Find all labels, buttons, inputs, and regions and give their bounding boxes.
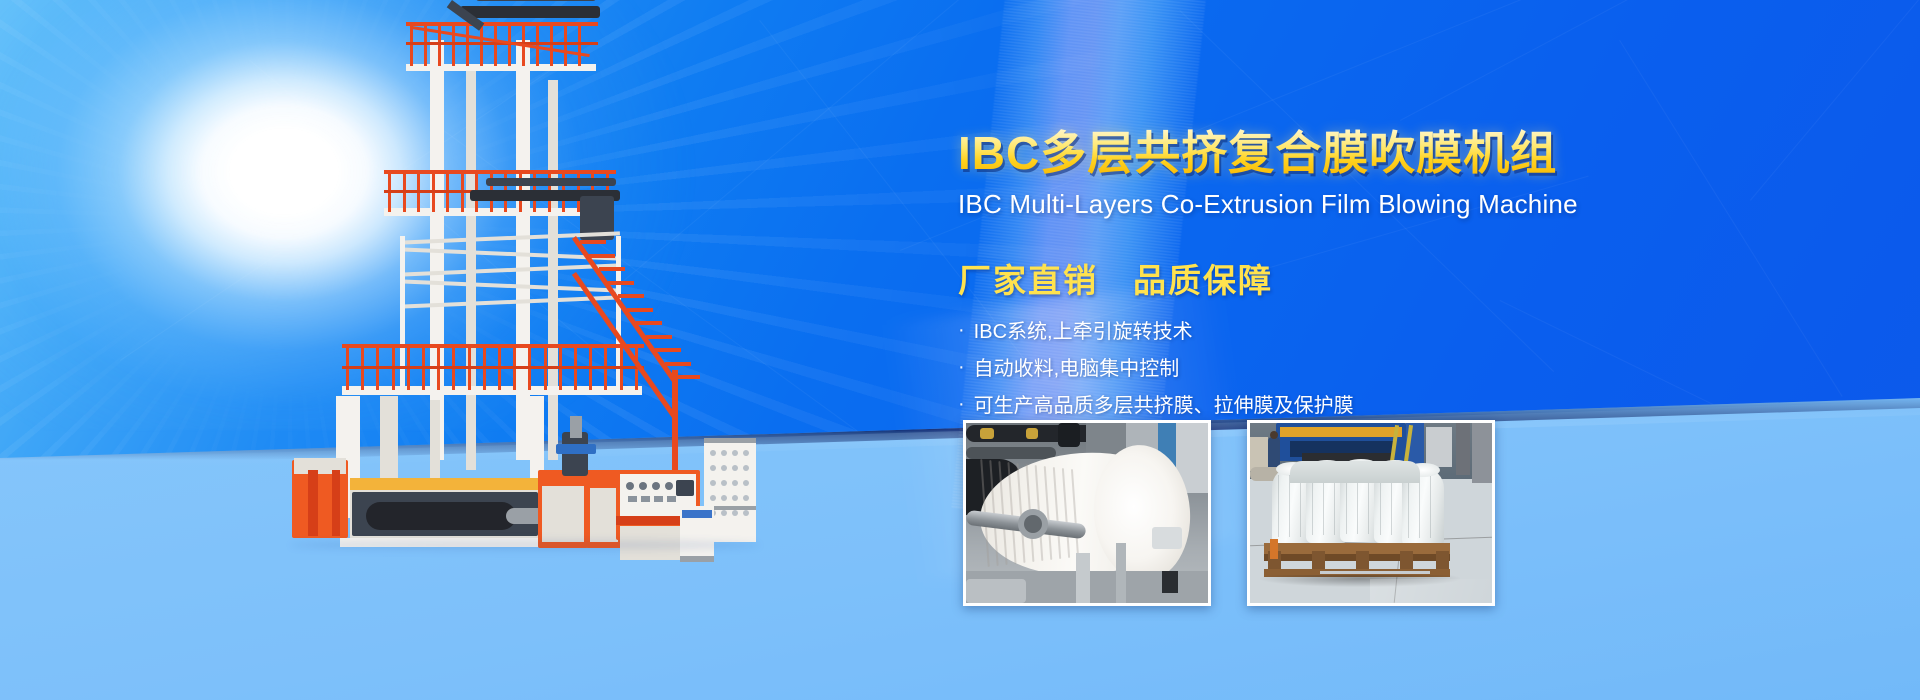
machine-part — [332, 470, 340, 536]
stacked-goods — [1250, 437, 1268, 471]
yellow-stripe — [1280, 427, 1402, 437]
machine-part — [732, 450, 738, 456]
metal-strap — [1320, 571, 1430, 574]
machine-part — [406, 64, 596, 71]
wrap-line — [1408, 476, 1409, 538]
page-subtitle-english: IBC Multi-Layers Co-Extrusion Film Blowi… — [958, 189, 1658, 220]
machine-part — [486, 178, 616, 186]
roller-collar — [980, 428, 994, 439]
machine-part — [667, 496, 676, 502]
machine-part — [646, 335, 672, 339]
machine-part — [290, 540, 760, 550]
machine-part — [572, 236, 677, 383]
machine-part — [342, 344, 644, 348]
machine-part — [580, 240, 606, 244]
film-roll-back-row — [1290, 461, 1420, 483]
machine-part — [628, 496, 637, 502]
machine-part — [743, 480, 749, 486]
wrap-line — [1419, 476, 1420, 538]
machine-part — [641, 496, 650, 502]
support-post — [1076, 553, 1090, 603]
wrap-line — [1278, 475, 1279, 537]
machine-part — [710, 450, 716, 456]
machine-part — [732, 480, 738, 486]
machine-part — [721, 465, 727, 471]
machine-part — [460, 6, 600, 18]
machine-part — [342, 386, 642, 395]
machine-part — [652, 482, 660, 490]
floor-sheen — [1370, 579, 1490, 603]
machine-part — [636, 321, 662, 325]
machine-part — [342, 366, 644, 369]
pallet-orange-mark — [1270, 539, 1278, 559]
machine-part — [564, 24, 567, 66]
machine-part — [665, 482, 673, 490]
machine-part — [665, 362, 691, 366]
machine-part — [384, 170, 616, 174]
machine-part — [494, 24, 497, 66]
machine-part — [710, 495, 716, 501]
pillar — [1456, 423, 1470, 475]
machine-part — [676, 480, 694, 496]
photo-film-roll-on-winder[interactable] — [963, 420, 1211, 606]
wrap-line — [1289, 475, 1290, 537]
machine-part — [704, 438, 756, 443]
pillar — [1472, 423, 1492, 483]
page-title: IBC多层共挤复合膜吹膜机组 — [958, 128, 1658, 180]
worker-body — [1268, 437, 1280, 467]
machine-frame — [1086, 423, 1126, 453]
feature-list-item: ·可生产高品质多层共挤膜、拉伸膜及保护膜 — [958, 396, 1658, 416]
frame-rail — [966, 579, 1026, 603]
feature-text: 自动收料,电脑集中控制 — [974, 359, 1180, 379]
shaft-hub — [1024, 515, 1042, 533]
bullet-dot-icon: · — [958, 394, 965, 414]
machine-part — [410, 24, 413, 66]
machine-part — [542, 486, 584, 542]
machine-bracket — [1058, 423, 1080, 447]
bullet-dot-icon: · — [958, 357, 965, 377]
machine-part — [570, 416, 582, 438]
machine-part — [672, 370, 678, 470]
machine-part — [589, 254, 615, 258]
machine-part — [654, 496, 663, 502]
dark-motor — [1162, 571, 1178, 593]
machine-part — [508, 24, 511, 66]
machine-part — [408, 24, 598, 27]
product-hero-banner: IBC多层共挤复合膜吹膜机组 IBC Multi-Layers Co-Extru… — [0, 0, 1920, 700]
machine-part — [516, 40, 530, 460]
blown-film-machine-image — [280, 40, 740, 520]
feature-list: ·IBC系统,上牵引旋转技术·自动收料,电脑集中控制·可生产高品质多层共挤膜、拉… — [958, 322, 1658, 416]
machine-part — [680, 556, 714, 562]
machine-part — [732, 465, 738, 471]
machine-part — [732, 495, 738, 501]
facet-line — [1400, 0, 1920, 121]
wrap-line — [1300, 475, 1301, 537]
machine-part — [556, 444, 596, 454]
machine-part — [480, 24, 483, 66]
control-box — [1426, 427, 1452, 467]
hero-copy: IBC多层共挤复合膜吹膜机组 IBC Multi-Layers Co-Extru… — [958, 128, 1658, 433]
machine-part — [639, 482, 647, 490]
facet-line — [1750, 0, 1920, 201]
machine-part — [655, 348, 681, 352]
machine-part — [721, 495, 727, 501]
machine-part — [710, 480, 716, 486]
machine-part — [350, 478, 540, 490]
machine-module — [1152, 527, 1182, 549]
roller-collar — [1026, 428, 1038, 439]
support-post — [1116, 543, 1126, 603]
sales-tagline: 厂家直销 品质保障 — [958, 254, 1658, 302]
machine-part — [618, 294, 644, 298]
machine-part — [732, 510, 738, 516]
machine-part — [466, 24, 469, 66]
photo-film-rolls-on-pallet[interactable] — [1247, 420, 1495, 606]
machine-part — [743, 510, 749, 516]
machine-part — [550, 24, 553, 66]
feature-text: IBC系统,上牵引旋转技术 — [974, 322, 1193, 342]
feature-list-item: ·IBC系统,上牵引旋转技术 — [958, 322, 1658, 342]
feature-text: 可生产高品质多层共挤膜、拉伸膜及保护膜 — [974, 396, 1354, 416]
machine-part — [743, 465, 749, 471]
machine-part — [578, 24, 581, 66]
machine-part — [743, 495, 749, 501]
machine-part — [721, 450, 727, 456]
machine-part — [721, 480, 727, 486]
dark-roller-2 — [966, 447, 1056, 459]
wrap-line — [1430, 476, 1431, 538]
bullet-dot-icon: · — [958, 320, 965, 340]
feature-list-item: ·自动收料,电脑集中控制 — [958, 359, 1658, 379]
machine-part — [590, 488, 618, 542]
machine-part — [721, 510, 727, 516]
machine-part — [627, 308, 653, 312]
machine-part — [710, 465, 716, 471]
machine-part — [682, 510, 712, 518]
product-photo-strip — [963, 420, 1495, 606]
machine-part — [366, 502, 516, 530]
machine-part — [626, 482, 634, 490]
machine-part — [308, 470, 318, 536]
machine-part — [452, 24, 455, 66]
machine-part — [476, 0, 596, 1]
machine-part — [599, 267, 625, 271]
machine-part — [562, 432, 588, 476]
machine-part — [608, 281, 634, 285]
machine-part — [743, 450, 749, 456]
machine-part — [400, 236, 405, 386]
worker-head — [1270, 431, 1278, 439]
